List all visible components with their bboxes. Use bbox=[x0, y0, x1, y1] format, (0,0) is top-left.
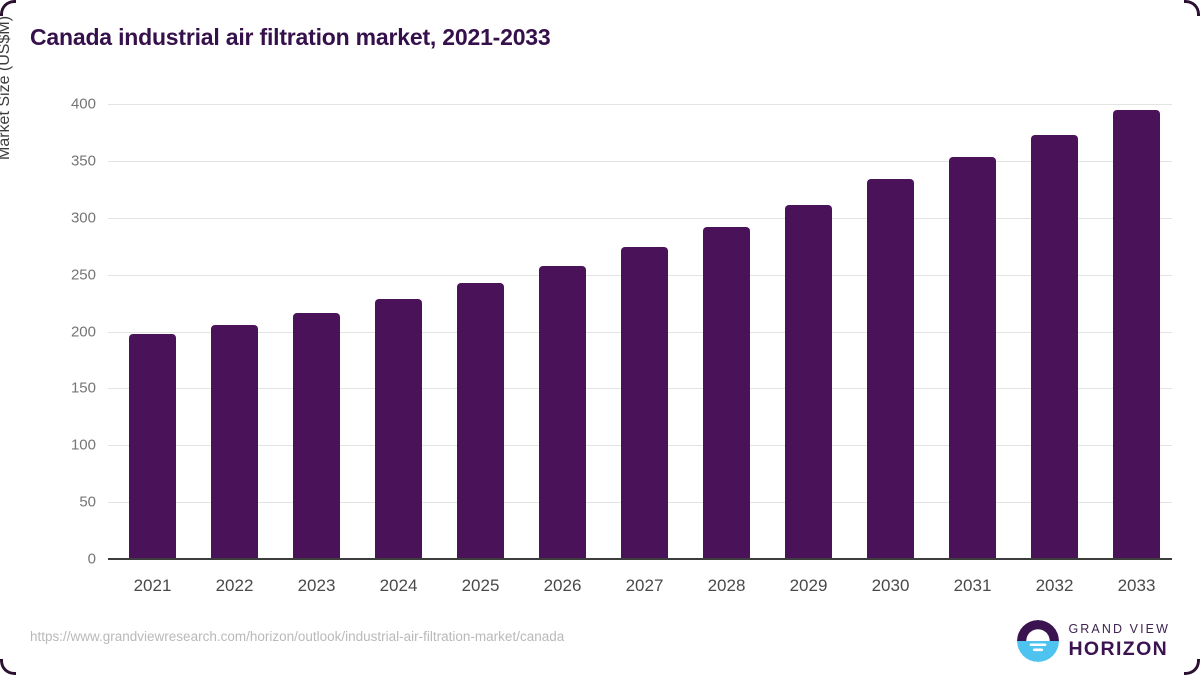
bar-2026[interactable] bbox=[539, 266, 586, 559]
x-axis-tick-label-2023: 2023 bbox=[272, 576, 362, 596]
bar-2030[interactable] bbox=[867, 179, 914, 559]
y-axis-tick-label: 150 bbox=[36, 380, 96, 397]
bar-2023[interactable] bbox=[293, 313, 340, 559]
y-axis-tick-label: 100 bbox=[36, 437, 96, 454]
brand-logo: GRAND VIEW HORIZON bbox=[1017, 620, 1170, 662]
y-axis-tick-label: 250 bbox=[36, 266, 96, 283]
y-axis-tick-label: 200 bbox=[36, 323, 96, 340]
x-axis-tick-label-2025: 2025 bbox=[436, 576, 526, 596]
y-axis-tick-label: 300 bbox=[36, 209, 96, 226]
bar-2025[interactable] bbox=[457, 283, 504, 559]
page-title: Canada industrial air filtration market,… bbox=[30, 24, 550, 51]
x-axis-tick-label-2031: 2031 bbox=[928, 576, 1018, 596]
gridline bbox=[108, 161, 1172, 162]
frame-corner-top-left bbox=[0, 0, 16, 16]
bar-2033[interactable] bbox=[1113, 110, 1160, 559]
bar-2024[interactable] bbox=[375, 299, 422, 559]
bar-2032[interactable] bbox=[1031, 135, 1078, 559]
x-axis-tick-label-2028: 2028 bbox=[682, 576, 772, 596]
brand-logo-text: GRAND VIEW HORIZON bbox=[1068, 623, 1170, 659]
frame-corner-bottom-left bbox=[0, 659, 16, 675]
bar-2031[interactable] bbox=[949, 157, 996, 559]
brand-name-top: GRAND VIEW bbox=[1068, 623, 1170, 636]
x-axis-tick-label-2027: 2027 bbox=[600, 576, 690, 596]
frame-corner-bottom-right bbox=[1184, 659, 1200, 675]
chart-page: Canada industrial air filtration market,… bbox=[0, 0, 1200, 675]
gridline bbox=[108, 218, 1172, 219]
bar-2029[interactable] bbox=[785, 205, 832, 559]
y-axis-title: Market Size (US$M) bbox=[0, 16, 14, 160]
y-axis-tick-label: 50 bbox=[36, 494, 96, 511]
plot-area: 050100150200250300350400 bbox=[108, 104, 1172, 559]
brand-name-bottom: HORIZON bbox=[1068, 640, 1170, 660]
x-axis-tick-label-2029: 2029 bbox=[764, 576, 854, 596]
x-axis-tick-label-2022: 2022 bbox=[190, 576, 280, 596]
y-axis-tick-label: 400 bbox=[36, 96, 96, 113]
y-axis-tick-label: 350 bbox=[36, 152, 96, 169]
x-axis-tick-label-2021: 2021 bbox=[108, 576, 198, 596]
frame-corner-top-right bbox=[1184, 0, 1200, 16]
x-axis-tick-label-2032: 2032 bbox=[1010, 576, 1100, 596]
x-axis-tick-label-2030: 2030 bbox=[846, 576, 936, 596]
bar-2022[interactable] bbox=[211, 325, 258, 559]
x-axis-line bbox=[108, 558, 1172, 560]
horizon-logo-icon bbox=[1017, 620, 1059, 662]
gridline bbox=[108, 104, 1172, 105]
bar-2028[interactable] bbox=[703, 227, 750, 559]
bar-2021[interactable] bbox=[129, 334, 176, 559]
x-axis-tick-label-2026: 2026 bbox=[518, 576, 608, 596]
bar-2027[interactable] bbox=[621, 247, 668, 559]
x-axis-tick-label-2024: 2024 bbox=[354, 576, 444, 596]
source-url[interactable]: https://www.grandviewresearch.com/horizo… bbox=[30, 629, 564, 644]
y-axis-tick-label: 0 bbox=[36, 551, 96, 568]
x-axis-tick-label-2033: 2033 bbox=[1092, 576, 1182, 596]
